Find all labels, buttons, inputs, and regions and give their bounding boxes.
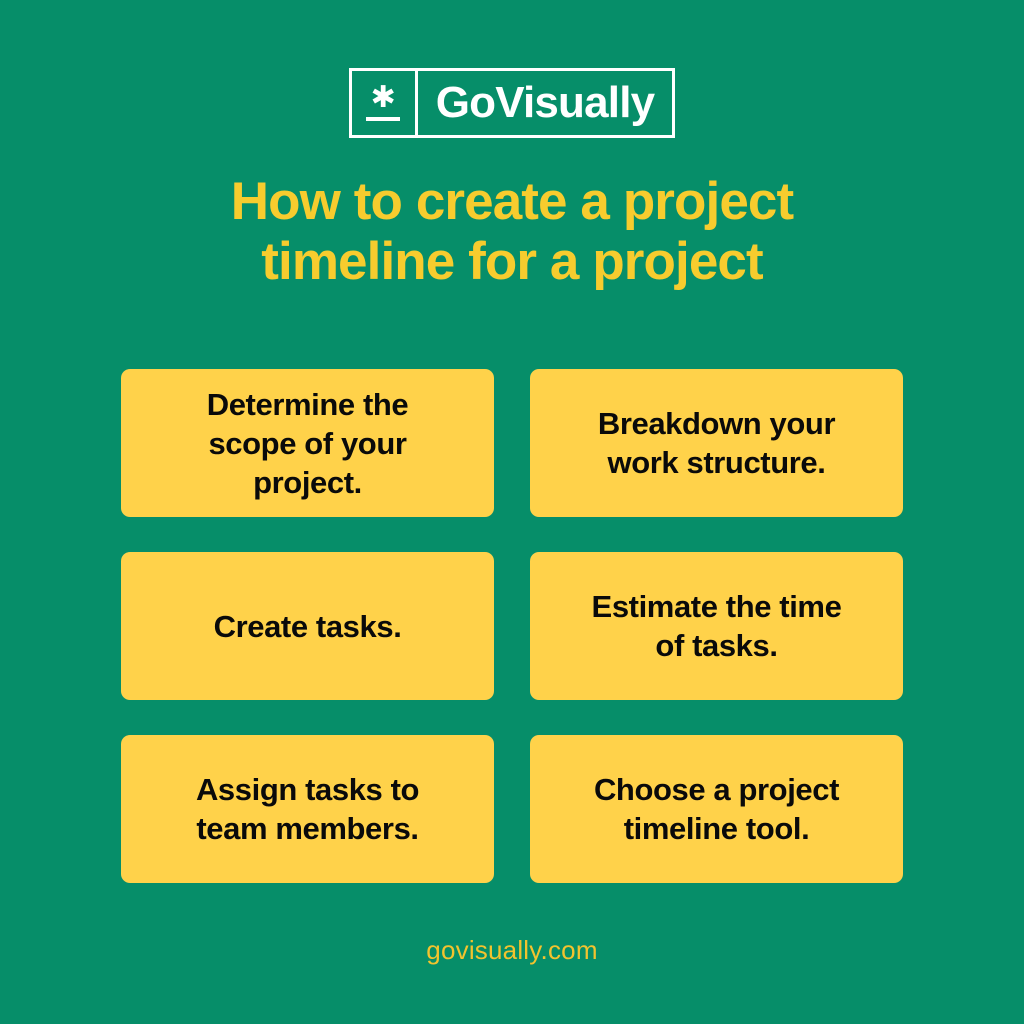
asterisk-icon: ✱: [371, 85, 396, 111]
step-card-6-label: Choose a project timeline tool.: [594, 770, 839, 848]
step-card-6-line-1: Choose a project: [594, 770, 839, 809]
logo-underline-bar: [366, 117, 400, 121]
step-card-6[interactable]: Choose a project timeline tool.: [530, 735, 903, 883]
step-card-5-label: Assign tasks to team members.: [196, 770, 419, 848]
step-card-3[interactable]: Create tasks.: [121, 552, 494, 700]
brand-logo[interactable]: ✱ GoVisually: [349, 68, 676, 138]
page-title: How to create a project timeline for a p…: [142, 172, 882, 293]
step-card-2-line-1: Breakdown your: [598, 404, 835, 443]
poster-canvas: ✱ GoVisually How to create a project tim…: [0, 0, 1024, 1024]
step-card-4-line-1: Estimate the time: [592, 587, 842, 626]
step-card-1-label: Determine the scope of your project.: [207, 385, 409, 502]
step-card-4-line-2: of tasks.: [592, 626, 842, 665]
step-card-2-line-2: work structure.: [598, 443, 835, 482]
step-card-3-line-1: Create tasks.: [214, 607, 402, 646]
step-card-1-line-1: Determine the: [207, 385, 409, 424]
step-card-6-line-2: timeline tool.: [594, 809, 839, 848]
page-title-line-1: How to create a project: [142, 172, 882, 232]
footer-website-link[interactable]: govisually.com: [426, 935, 597, 966]
page-title-line-2: timeline for a project: [142, 232, 882, 292]
step-card-3-label: Create tasks.: [214, 607, 402, 646]
step-card-5[interactable]: Assign tasks to team members.: [121, 735, 494, 883]
step-card-1-line-2: scope of your: [207, 424, 409, 463]
steps-grid: Determine the scope of your project. Bre…: [121, 369, 903, 883]
step-card-5-line-1: Assign tasks to: [196, 770, 419, 809]
step-card-1-line-3: project.: [207, 463, 409, 502]
logo-mark-box: ✱: [352, 71, 418, 135]
step-card-5-line-2: team members.: [196, 809, 419, 848]
step-card-4[interactable]: Estimate the time of tasks.: [530, 552, 903, 700]
step-card-2[interactable]: Breakdown your work structure.: [530, 369, 903, 517]
logo-wordmark: GoVisually: [418, 71, 673, 135]
step-card-1[interactable]: Determine the scope of your project.: [121, 369, 494, 517]
step-card-4-label: Estimate the time of tasks.: [592, 587, 842, 665]
step-card-2-label: Breakdown your work structure.: [598, 404, 835, 482]
